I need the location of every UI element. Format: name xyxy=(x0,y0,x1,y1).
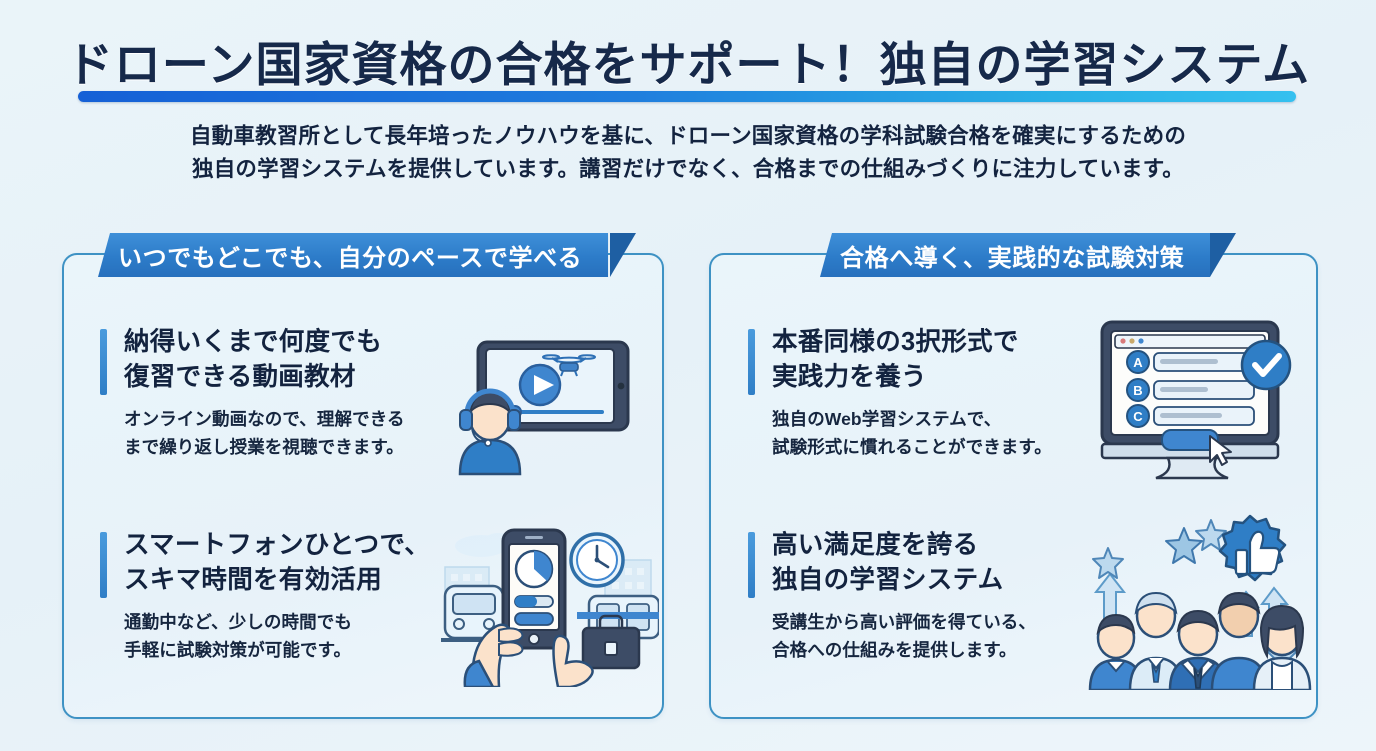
quiz-option-c-label: C xyxy=(1133,409,1143,424)
tablet-video-illustration xyxy=(448,322,648,482)
pie-chart-icon xyxy=(516,551,552,587)
browser-bar-icon xyxy=(1115,335,1265,348)
smartphone-commute-illustration xyxy=(437,512,659,687)
feature-3-accent-bar xyxy=(748,329,755,395)
feature-2-accent-bar xyxy=(100,532,107,598)
feature-3-body: 独自のWeb学習システムで、 試験形式に慣れることができます。 xyxy=(772,405,1052,461)
feature-4-heading-line-1: 高い満足度を誇る xyxy=(772,528,1003,563)
feature-2-body: 通勤中など、少しの時間でも 手軽に試験対策が可能です。 xyxy=(124,608,352,664)
clock-icon xyxy=(571,534,623,586)
checkmark-badge-icon xyxy=(1242,341,1290,389)
star-3-icon xyxy=(1196,520,1226,550)
feature-1-body-line-2: まで繰り返し授業を視聴できます。 xyxy=(124,433,405,461)
infographic-page: ドローン国家資格の合格をサポート！独自の学習システム 自動車教習所として長年培っ… xyxy=(0,0,1376,751)
page-subtitle: 自動車教習所として長年培ったノウハウを基に、ドローン国家資格の学科試験合格を確実… xyxy=(0,120,1376,186)
feature-4-body-line-1: 受講生から高い評価を得ている、 xyxy=(772,608,1036,636)
person-5-icon xyxy=(1254,606,1310,690)
feature-1-body: オンライン動画なので、理解できる まで繰り返し授業を視聴できます。 xyxy=(124,405,405,461)
feature-4-body: 受講生から高い評価を得ている、 合格への仕組みを提供します。 xyxy=(772,608,1036,664)
feature-2-heading-line-2: スキマ時間を有効活用 xyxy=(124,563,430,598)
subtitle-line-2: 独自の学習システムを提供しています。講習だけでなく、合格までの仕組みづくりに注力… xyxy=(0,153,1376,186)
quiz-option-b: B xyxy=(1127,379,1254,401)
feature-4-body-line-2: 合格への仕組みを提供します。 xyxy=(772,636,1036,664)
play-button-icon xyxy=(520,365,560,405)
feature-1-heading-line-1: 納得いくまで何度でも xyxy=(124,325,382,360)
feature-2-body-line-2: 手軽に試験対策が可能です。 xyxy=(124,636,352,664)
star-1-icon xyxy=(1093,548,1123,578)
feature-1-accent-bar xyxy=(100,329,107,395)
feature-1-body-line-1: オンライン動画なので、理解できる xyxy=(124,405,405,433)
subtitle-line-1: 自動車教習所として長年培ったノウハウを基に、ドローン国家資格の学科試験合格を確実… xyxy=(0,120,1376,153)
feature-3-body-line-1: 独自のWeb学習システムで、 xyxy=(772,405,1052,433)
feature-4-heading-line-2: 独自の学習システム xyxy=(772,563,1003,598)
student-with-headphones-icon xyxy=(460,391,520,474)
feature-1-heading: 納得いくまで何度でも 復習できる動画教材 xyxy=(124,325,382,395)
people-satisfaction-illustration xyxy=(1078,512,1313,690)
feature-3-heading-line-1: 本番同様の3択形式で xyxy=(772,325,1019,360)
ribbon-right: 合格へ導く、実践的な試験対策 xyxy=(820,233,1210,277)
feature-3-heading: 本番同様の3択形式で 実践力を養う xyxy=(772,325,1019,395)
quiz-option-c: C xyxy=(1127,405,1254,427)
monitor-quiz-illustration: A B C xyxy=(1090,312,1305,482)
page-title: ドローン国家資格の合格をサポート！独自の学習システム xyxy=(0,26,1376,95)
quiz-option-a: A xyxy=(1127,351,1254,373)
thumbs-up-badge-icon xyxy=(1220,516,1285,580)
feature-3-body-line-2: 試験形式に慣れることができます。 xyxy=(772,433,1052,461)
feature-2-body-line-1: 通勤中など、少しの時間でも xyxy=(124,608,352,636)
feature-2-heading: スマートフォンひとつで、 スキマ時間を有効活用 xyxy=(124,528,430,598)
ribbon-left: いつでもどこでも、自分のペースで学べる xyxy=(98,233,608,277)
feature-1-heading-line-2: 復習できる動画教材 xyxy=(124,360,382,395)
quiz-option-a-label: A xyxy=(1133,355,1143,370)
star-2-icon xyxy=(1166,528,1202,563)
quiz-option-b-label: B xyxy=(1133,383,1142,398)
feature-2-heading-line-1: スマートフォンひとつで、 xyxy=(124,528,430,563)
feature-4-heading: 高い満足度を誇る 独自の学習システム xyxy=(772,528,1003,598)
feature-3-heading-line-2: 実践力を養う xyxy=(772,360,1019,395)
title-underline-bar xyxy=(78,91,1296,102)
feature-4-accent-bar xyxy=(748,532,755,598)
